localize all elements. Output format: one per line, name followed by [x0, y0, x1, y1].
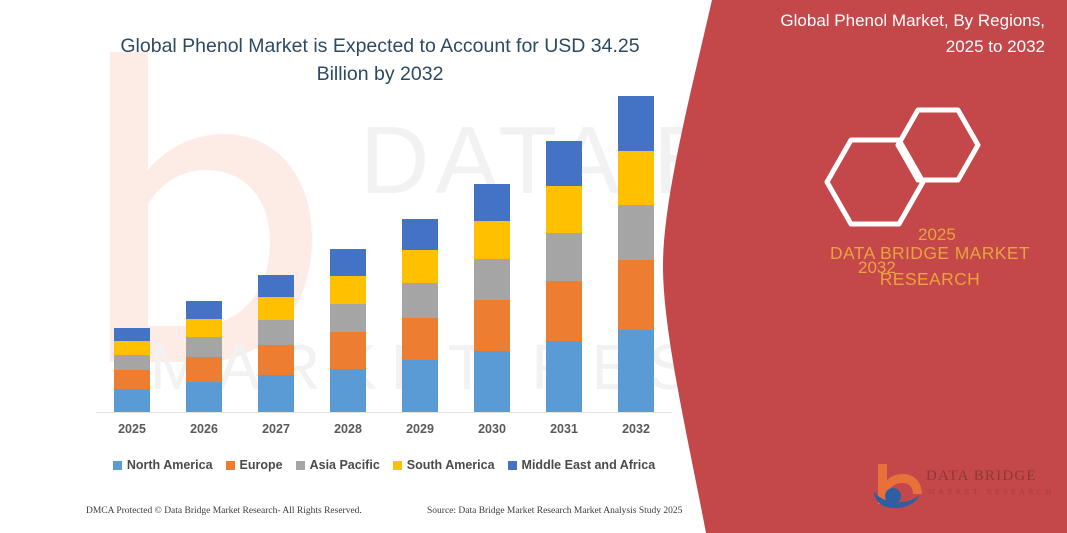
- bar-segment-2028-middle-east-and-africa: [330, 249, 366, 276]
- chart-legend: North AmericaEuropeAsia PacificSouth Ame…: [96, 456, 672, 474]
- bar-segment-2026-north-america: [186, 382, 222, 413]
- bar-segment-2031-middle-east-and-africa: [546, 141, 582, 186]
- x-axis-tick-2030: 2030: [457, 422, 527, 436]
- legend-label: Europe: [240, 458, 283, 472]
- bar-2030: [474, 184, 510, 413]
- bar-2027: [258, 275, 294, 413]
- x-axis-tick-2029: 2029: [385, 422, 455, 436]
- bar-segment-2027-south-america: [258, 297, 294, 320]
- bar-segment-2027-north-america: [258, 375, 294, 413]
- bar-2025: [114, 328, 150, 413]
- legend-swatch-icon: [226, 461, 235, 470]
- bar-segment-2027-europe: [258, 345, 294, 376]
- legend-label: North America: [127, 458, 213, 472]
- bar-segment-2032-north-america: [618, 330, 654, 413]
- x-axis-tick-2026: 2026: [169, 422, 239, 436]
- footer: DMCA Protected © Data Bridge Market Rese…: [0, 506, 700, 526]
- bar-segment-2030-south-america: [474, 221, 510, 260]
- legend-label: South America: [407, 458, 495, 472]
- bar-segment-2029-asia-pacific: [402, 283, 438, 317]
- hexagon-2025-icon: [898, 110, 978, 180]
- x-axis-tick-2025: 2025: [97, 422, 167, 436]
- legend-swatch-icon: [296, 461, 305, 470]
- bar-segment-2025-asia-pacific: [114, 355, 150, 370]
- bar-segment-2029-europe: [402, 318, 438, 361]
- bar-segment-2027-asia-pacific: [258, 320, 294, 344]
- bar-segment-2028-asia-pacific: [330, 304, 366, 333]
- bar-segment-2032-middle-east-and-africa: [618, 96, 654, 151]
- bar-segment-2028-south-america: [330, 276, 366, 304]
- bar-segment-2028-north-america: [330, 369, 366, 413]
- bar-2028: [330, 249, 366, 413]
- legend-item-europe[interactable]: Europe: [226, 458, 283, 472]
- brand-name: DATA BRIDGE MARKET RESEARCH: [790, 240, 1067, 292]
- bar-segment-2026-europe: [186, 357, 222, 382]
- bar-segment-2029-south-america: [402, 250, 438, 283]
- x-axis-tick-2027: 2027: [241, 422, 311, 436]
- bar-segment-2028-europe: [330, 332, 366, 368]
- logo-dot-icon: [885, 488, 901, 504]
- legend-item-south-america[interactable]: South America: [393, 458, 495, 472]
- bar-segment-2030-asia-pacific: [474, 259, 510, 300]
- legend-swatch-icon: [113, 461, 122, 470]
- bar-segment-2032-asia-pacific: [618, 205, 654, 261]
- legend-label: Middle East and Africa: [522, 458, 656, 472]
- logo-secondary-text: MARKET RESEARCH: [928, 487, 1055, 496]
- legend-label: Asia Pacific: [310, 458, 380, 472]
- panel-title: Global Phenol Market, By Regions, 2025 t…: [745, 8, 1045, 60]
- bar-segment-2030-north-america: [474, 351, 510, 413]
- bar-2029: [402, 219, 438, 413]
- x-axis-tick-2031: 2031: [529, 422, 599, 436]
- legend-item-asia-pacific[interactable]: Asia Pacific: [296, 458, 380, 472]
- hexagon-group: 2032 2025: [815, 100, 1065, 230]
- bar-segment-2032-south-america: [618, 151, 654, 205]
- logo-primary-text: DATA BRIDGE: [926, 468, 1037, 485]
- bar-segment-2031-europe: [546, 281, 582, 341]
- infographic-canvas: DATA BRIDGE MARKET RESEARCH Global Pheno…: [0, 0, 1067, 533]
- bar-segment-2031-asia-pacific: [546, 233, 582, 281]
- bar-segment-2031-north-america: [546, 341, 582, 413]
- stacked-bar-chart: [96, 96, 672, 413]
- x-axis: 20252026202720282029203020312032: [96, 422, 672, 446]
- bar-segment-2026-middle-east-and-africa: [186, 301, 222, 319]
- bar-segment-2029-middle-east-and-africa: [402, 219, 438, 250]
- legend-swatch-icon: [393, 461, 402, 470]
- legend-item-north-america[interactable]: North America: [113, 458, 213, 472]
- chart-baseline: [96, 412, 672, 413]
- legend-swatch-icon: [508, 461, 517, 470]
- footer-source: Source: Data Bridge Market Research Mark…: [427, 506, 682, 516]
- bar-segment-2025-south-america: [114, 341, 150, 355]
- bar-segment-2029-north-america: [402, 360, 438, 413]
- bar-segment-2026-asia-pacific: [186, 337, 222, 356]
- x-axis-tick-2028: 2028: [313, 422, 383, 436]
- bar-segment-2030-middle-east-and-africa: [474, 184, 510, 221]
- bar-segment-2025-middle-east-and-africa: [114, 328, 150, 341]
- bar-segment-2025-europe: [114, 370, 150, 389]
- page-title: Global Phenol Market is Expected to Acco…: [110, 32, 650, 88]
- bar-segment-2031-south-america: [546, 186, 582, 232]
- bar-2026: [186, 301, 222, 413]
- bar-segment-2032-europe: [618, 260, 654, 329]
- bar-segment-2026-south-america: [186, 319, 222, 338]
- legend-item-middle-east-and-africa[interactable]: Middle East and Africa: [508, 458, 656, 472]
- bar-2031: [546, 141, 582, 413]
- bar-segment-2030-europe: [474, 300, 510, 351]
- data-bridge-logo: DATA BRIDGE MARKET RESEARCH: [872, 462, 1057, 510]
- bar-2032: [618, 96, 654, 413]
- footer-copyright: DMCA Protected © Data Bridge Market Rese…: [86, 506, 362, 516]
- bar-segment-2027-middle-east-and-africa: [258, 275, 294, 297]
- x-axis-tick-2032: 2032: [601, 422, 671, 436]
- hexagon-2032-icon: [827, 140, 923, 224]
- bar-segment-2025-north-america: [114, 389, 150, 413]
